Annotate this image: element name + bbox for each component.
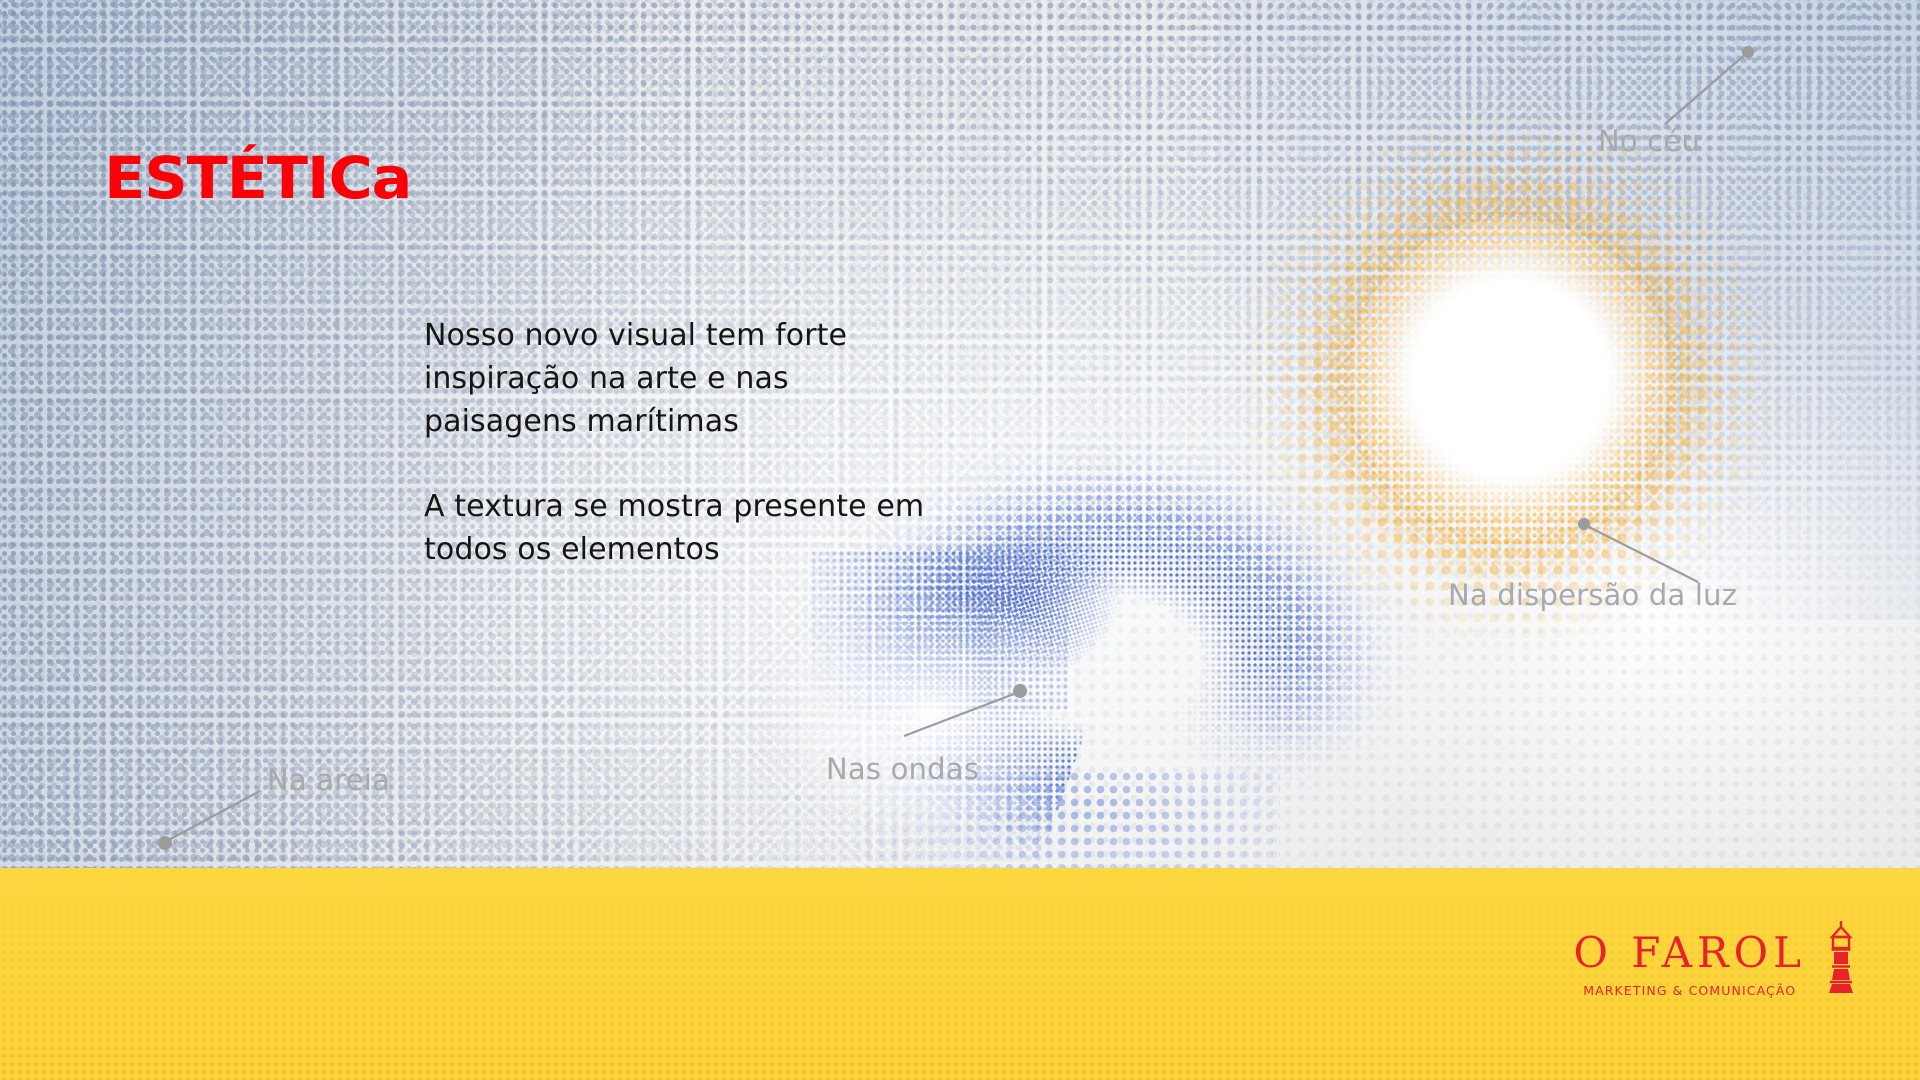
brand-logo-text: O FAROL MARKETING & COMUNICAÇÃO [1573, 932, 1806, 998]
annotation-label-dispersao: Na dispersão da luz [1448, 578, 1737, 612]
annotation-label-nas-ondas: Nas ondas [826, 752, 979, 786]
leader-line-na-areia [156, 782, 272, 852]
slide-canvas: ESTÉTICa Nosso novo visual tem forte ins… [0, 0, 1920, 1080]
lighthouse-icon [1820, 918, 1862, 996]
leader-line-no-ceu [1640, 44, 1760, 136]
brand-logo-word: O FAROL [1573, 932, 1806, 974]
brand-logo-tagline: MARKETING & COMUNICAÇÃO [1573, 983, 1806, 998]
page-title: ESTÉTICa [110, 149, 405, 207]
body-paragraph-1: Nosso novo visual tem forte inspiração n… [424, 315, 944, 444]
page-title-text: ESTÉTICa [104, 149, 411, 207]
body-paragraph-2: A textura se mostra presente em todos os… [424, 486, 944, 572]
leader-line-nas-ondas [896, 682, 1028, 744]
brand-logo: O FAROL MARKETING & COMUNICAÇÃO [1573, 918, 1862, 998]
annotation-label-na-areia: Na areia [267, 763, 390, 797]
body-copy: Nosso novo visual tem forte inspiração n… [424, 315, 944, 571]
annotation-label-no-ceu: No céu [1598, 124, 1700, 158]
